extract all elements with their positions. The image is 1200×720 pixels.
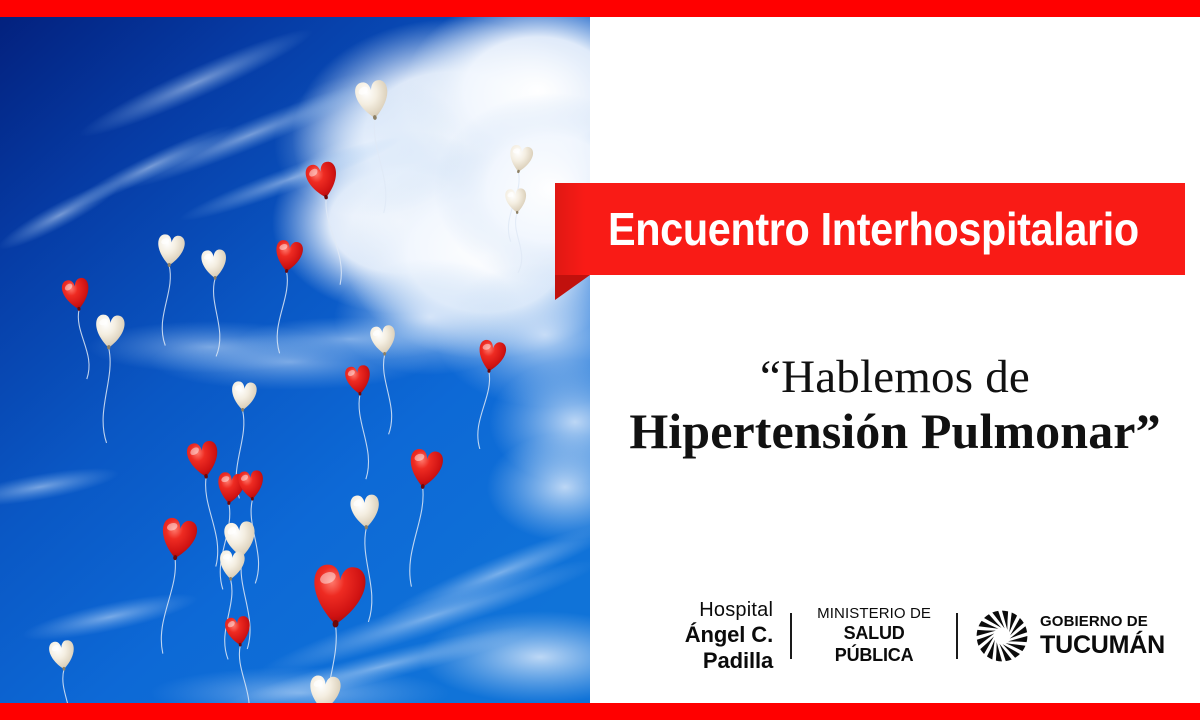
logo-lockup: Hospital Ángel C. Padilla MINISTERIO DE … (625, 600, 1165, 672)
headline: “Hablemos de Hipertensión Pulmonar” (590, 352, 1200, 459)
pinwheel-blade (977, 630, 996, 636)
pinwheel-blade (996, 642, 1002, 661)
hospital-logo: Hospital Ángel C. Padilla (625, 599, 773, 673)
balloons-photo (0, 17, 590, 703)
logo-divider-2 (956, 613, 958, 659)
pinwheel-blade (1008, 636, 1027, 642)
government-logo-line-1: GOBIERNO DE (1040, 613, 1165, 631)
government-logo-text: GOBIERNO DE TUCUMÁN (1040, 613, 1165, 660)
banner-body[interactable]: Encuentro Interhospitalario (555, 183, 1185, 275)
ministry-logo: MINISTERIO DE SALUD PÚBLICA (809, 605, 939, 666)
headline-line-1: “Hablemos de (590, 352, 1200, 403)
hospital-logo-line-1: Hospital (625, 599, 773, 622)
top-red-rule (0, 0, 1200, 17)
banner-title: Encuentro Interhospitalario (608, 206, 1139, 252)
pinwheel-blade (1002, 611, 1008, 630)
government-logo-line-2: TUCUMÁN (1040, 631, 1165, 660)
ministry-logo-line-2: SALUD PÚBLICA (809, 623, 939, 666)
headline-line-2: Hipertensión Pulmonar” (590, 403, 1200, 459)
ministry-logo-line-1: MINISTERIO DE (809, 605, 939, 623)
logo-divider-1 (790, 613, 792, 659)
poster: Encuentro Interhospitalario “Hablemos de… (0, 0, 1200, 720)
event-banner: Encuentro Interhospitalario (555, 183, 1185, 275)
hospital-logo-line-2: Ángel C. Padilla (625, 622, 773, 673)
bottom-red-rule (0, 703, 1200, 720)
government-logo: GOBIERNO DE TUCUMÁN (975, 609, 1165, 663)
balloons-photo-canvas (0, 17, 590, 703)
pinwheel-sunburst-icon (975, 609, 1029, 663)
banner-shadow-gradient (555, 183, 585, 275)
